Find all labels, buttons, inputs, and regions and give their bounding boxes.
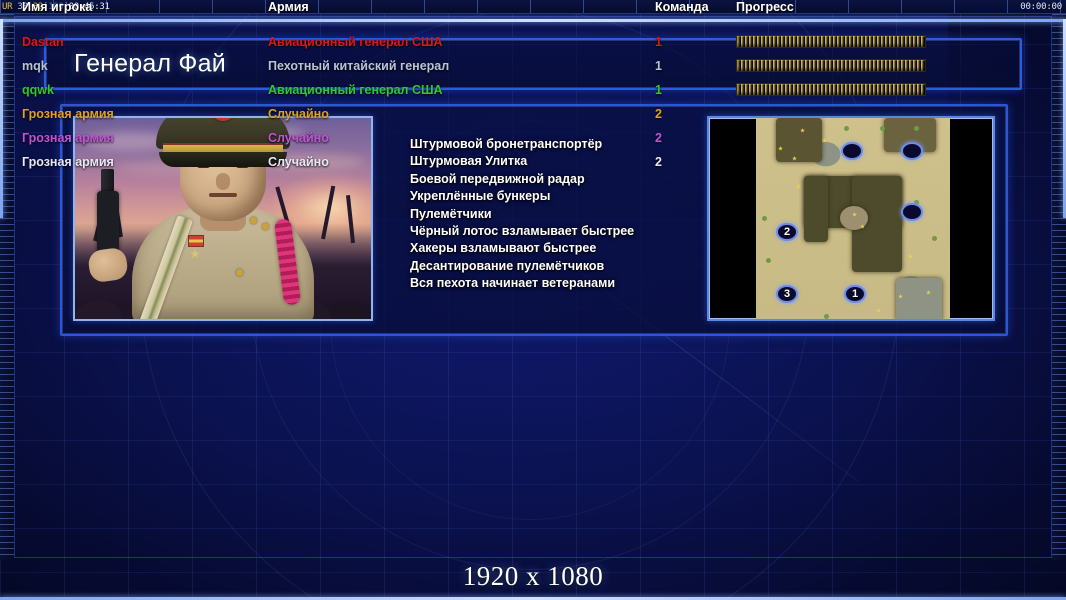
player-team[interactable]: 1 xyxy=(655,78,662,102)
minimap-start-position[interactable] xyxy=(901,203,923,221)
collar-pip xyxy=(236,269,243,276)
player-team[interactable]: 2 xyxy=(655,150,662,174)
players-table-header: Имя игрока Армия Команда Прогресс xyxy=(0,0,1066,20)
tree-marker xyxy=(932,236,937,241)
tree-marker xyxy=(762,216,767,221)
tree-marker xyxy=(766,258,771,263)
player-team[interactable]: 2 xyxy=(655,126,662,150)
terrain-dark-patch xyxy=(896,278,942,321)
player-name[interactable]: Грозная армия xyxy=(22,102,114,126)
column-header-player-name: Имя игрока xyxy=(22,0,92,14)
player-progress-bar xyxy=(736,83,926,96)
tree-marker xyxy=(824,314,829,319)
terrain-dark-patch xyxy=(804,176,828,242)
bonus-item: Вся пехота начинает ветеранами xyxy=(410,275,700,292)
bonus-item: Пулемётчики xyxy=(410,206,700,223)
player-army[interactable]: Случайно xyxy=(268,126,329,150)
player-army[interactable]: Авиационный генерал США xyxy=(268,78,443,102)
player-team[interactable]: 2 xyxy=(655,102,662,126)
mouth xyxy=(209,193,237,197)
player-name[interactable]: mqk xyxy=(22,54,48,78)
uniform-medal-ribbon xyxy=(188,235,204,247)
nose xyxy=(216,173,230,190)
header-divider xyxy=(0,19,1066,22)
player-name[interactable]: Грозная армия xyxy=(22,126,114,150)
column-header-army: Армия xyxy=(268,0,309,14)
resource-marker xyxy=(908,254,913,259)
progress-fill xyxy=(737,36,925,47)
progress-fill xyxy=(737,84,925,95)
table-row[interactable]: qqwkАвиационный генерал США1 xyxy=(0,78,1066,102)
player-name[interactable]: Грозная армия xyxy=(22,150,114,174)
uniform-medal-star xyxy=(190,249,200,259)
bonus-item: Укреплённые бункеры xyxy=(410,188,700,205)
resolution-overlay: 1920 x 1080 xyxy=(0,561,1066,592)
minimap-start-position[interactable]: 3 xyxy=(776,285,798,303)
table-row[interactable]: DastanАвиационный генерал США1 xyxy=(0,30,1066,54)
resource-marker xyxy=(796,184,801,189)
player-army[interactable]: Случайно xyxy=(268,150,329,174)
collar-pip xyxy=(262,223,269,230)
player-team[interactable]: 1 xyxy=(655,54,662,78)
collar-pip xyxy=(250,217,257,224)
player-army[interactable]: Случайно xyxy=(268,102,329,126)
minimap-start-position[interactable]: 1 xyxy=(844,285,866,303)
column-header-progress: Прогресс xyxy=(736,0,794,14)
player-army[interactable]: Пехотный китайский генерал xyxy=(268,54,449,78)
resource-marker xyxy=(876,308,881,313)
table-row[interactable]: mqkПехотный китайский генерал1 xyxy=(0,54,1066,78)
game-lobby-screen: UR 30 32[100]00:45:31 00:00:00 Генерал Ф… xyxy=(0,0,1066,600)
table-row[interactable]: Грозная армияСлучайно2 xyxy=(0,150,1066,174)
table-row[interactable]: Грозная армияСлучайно2 xyxy=(0,126,1066,150)
minimap-start-position[interactable]: 2 xyxy=(776,223,798,241)
bonus-item: Хакеры взламывают быстрее xyxy=(410,240,700,257)
player-progress-bar xyxy=(736,35,926,48)
table-row[interactable]: Грозная армияСлучайно2 xyxy=(0,102,1066,126)
bonus-item: Чёрный лотос взламывает быстрее xyxy=(410,223,700,240)
player-name[interactable]: qqwk xyxy=(22,78,54,102)
bonus-item: Десантирование пулемётчиков xyxy=(410,258,700,275)
player-progress-bar xyxy=(736,59,926,72)
player-name[interactable]: Dastan xyxy=(22,30,64,54)
player-army[interactable]: Авиационный генерал США xyxy=(268,30,443,54)
progress-fill xyxy=(737,60,925,71)
player-team[interactable]: 1 xyxy=(655,30,662,54)
column-header-team: Команда xyxy=(655,0,709,14)
